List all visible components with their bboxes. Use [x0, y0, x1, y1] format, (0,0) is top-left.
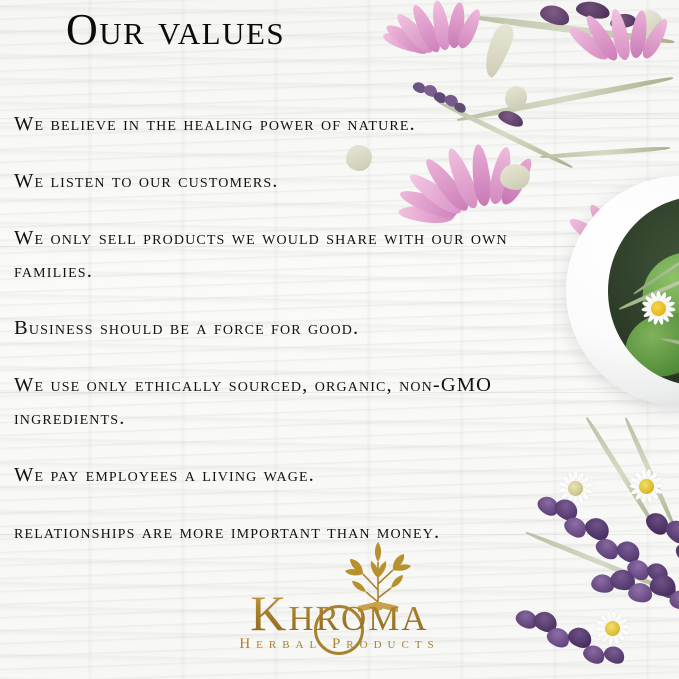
values-list: We believe in the healing power of natur… [14, 108, 554, 573]
value-item-healing-power: We believe in the healing power of natur… [14, 108, 554, 141]
value-item-force-for-good: Business should be a force for good. [14, 312, 554, 345]
value-item-living-wage: We pay employees a living wage. [14, 459, 554, 492]
value-item-share-with-families: We only sell products we would share wit… [14, 222, 554, 288]
page-title: Our values [66, 8, 285, 52]
flower-calyx [505, 86, 527, 110]
value-item-ethically-sourced: We use only ethically sourced, organic, … [14, 369, 554, 435]
value-item-listen-customers: We listen to our customers. [14, 165, 554, 198]
value-item-relationships: relationships are more important than mo… [14, 516, 554, 549]
values-poster: Our values We believe in the healing pow… [0, 0, 679, 679]
